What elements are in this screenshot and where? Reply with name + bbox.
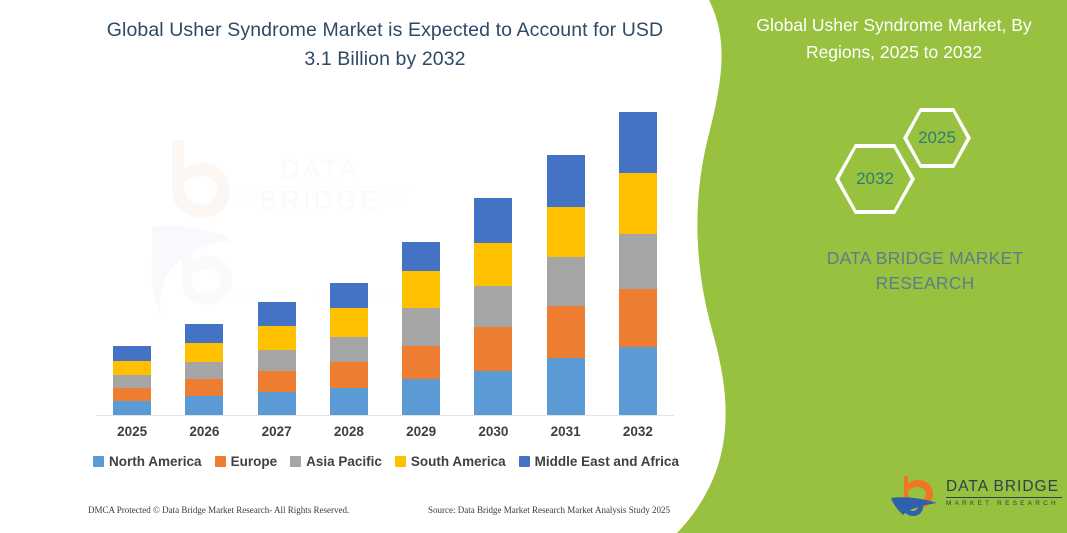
bar-segment: [330, 337, 368, 362]
bar-segment: [547, 155, 585, 207]
bar-segment: [113, 375, 151, 388]
legend-swatch-icon: [395, 456, 406, 467]
bar-segment: [330, 388, 368, 415]
bar-segment: [402, 308, 440, 346]
bar-segment: [619, 289, 657, 348]
bar-2030: [474, 198, 512, 415]
x-tick-2026: 2026: [168, 424, 240, 439]
logo-title: DATA BRIDGE: [946, 478, 1064, 496]
x-tick-2027: 2027: [241, 424, 313, 439]
bar-segment: [619, 173, 657, 234]
bar-segment: [402, 242, 440, 271]
x-tick-2030: 2030: [457, 424, 529, 439]
bar-segment: [113, 388, 151, 401]
legend-label: South America: [411, 454, 506, 469]
bar-segment: [474, 327, 512, 372]
bar-segment: [258, 350, 296, 372]
x-tick-2025: 2025: [96, 424, 168, 439]
bar-segment: [185, 379, 223, 396]
data-bridge-logo-icon: [890, 474, 942, 518]
bar-2025: [113, 346, 151, 415]
legend-swatch-icon: [93, 456, 104, 467]
chart-legend: North AmericaEuropeAsia PacificSouth Ame…: [96, 454, 676, 469]
legend-item: South America: [395, 454, 506, 469]
bar-segment: [547, 358, 585, 415]
legend-item: Asia Pacific: [290, 454, 382, 469]
bar-segment: [619, 347, 657, 415]
bar-2028: [330, 283, 368, 415]
x-axis-labels: 20252026202720282029203020312032: [96, 424, 674, 446]
hexagon-label-2025: 2025: [918, 128, 956, 148]
bar-segment: [113, 346, 151, 360]
legend-swatch-icon: [215, 456, 226, 467]
bar-segment: [402, 271, 440, 308]
bar-2032: [619, 112, 657, 415]
page-title: Global Usher Syndrome Market is Expected…: [95, 16, 675, 74]
panel-brand-text: DATA BRIDGE MARKET RESEARCH: [800, 246, 1050, 296]
bar-segment: [185, 362, 223, 379]
bar-segment: [113, 401, 151, 415]
bar-segment: [330, 308, 368, 336]
legend-swatch-icon: [519, 456, 530, 467]
legend-label: Middle East and Africa: [535, 454, 679, 469]
bar-chart-plot-area: [96, 100, 674, 416]
footer-copyright: DMCA Protected © Data Bridge Market Rese…: [88, 505, 349, 515]
panel-brand-line2: RESEARCH: [800, 271, 1050, 296]
bar-segment: [113, 361, 151, 375]
legend-label: Asia Pacific: [306, 454, 382, 469]
bar-segment: [258, 371, 296, 392]
infographic-canvas: Global Usher Syndrome Market is Expected…: [0, 0, 1067, 533]
legend-item: North America: [93, 454, 202, 469]
bar-segment: [619, 234, 657, 288]
bar-segment: [185, 396, 223, 415]
x-axis-line: [96, 415, 674, 416]
bar-segment: [474, 286, 512, 326]
legend-label: North America: [109, 454, 202, 469]
bar-segment: [547, 207, 585, 257]
bar-2027: [258, 302, 296, 415]
legend-item: Europe: [215, 454, 278, 469]
x-tick-2032: 2032: [602, 424, 674, 439]
hexagon-label-2032: 2032: [856, 169, 894, 189]
legend-swatch-icon: [290, 456, 301, 467]
bar-segment: [619, 112, 657, 173]
panel-title: Global Usher Syndrome Market, By Regions…: [677, 12, 1067, 66]
logo-text: DATA BRIDGE MARKET RESEARCH: [946, 478, 1064, 507]
logo-divider: [946, 497, 1062, 498]
bar-segment: [330, 362, 368, 388]
bar-segment: [474, 243, 512, 287]
bar-segment: [185, 324, 223, 344]
footer-source: Source: Data Bridge Market Research Mark…: [428, 505, 670, 515]
bar-2031: [547, 155, 585, 415]
bar-segment: [185, 343, 223, 362]
x-tick-2029: 2029: [385, 424, 457, 439]
legend-label: Europe: [231, 454, 278, 469]
x-tick-2028: 2028: [313, 424, 385, 439]
bar-segment: [258, 302, 296, 326]
bar-2029: [402, 242, 440, 415]
panel-brand-line1: DATA BRIDGE MARKET: [800, 246, 1050, 271]
bar-segment: [402, 346, 440, 379]
bar-2026: [185, 324, 223, 415]
bar-segment: [258, 392, 296, 415]
bar-segment: [330, 283, 368, 308]
bar-segment: [474, 198, 512, 243]
legend-item: Middle East and Africa: [519, 454, 679, 469]
bar-segment: [474, 371, 512, 415]
brand-logo: DATA BRIDGE MARKET RESEARCH: [890, 474, 1060, 522]
bar-segment: [547, 257, 585, 306]
bar-segment: [258, 326, 296, 350]
logo-subtitle: MARKET RESEARCH: [946, 500, 1064, 507]
bar-segment: [547, 306, 585, 358]
bar-segment: [402, 379, 440, 415]
x-tick-2031: 2031: [530, 424, 602, 439]
footer: DMCA Protected © Data Bridge Market Rese…: [0, 505, 700, 527]
